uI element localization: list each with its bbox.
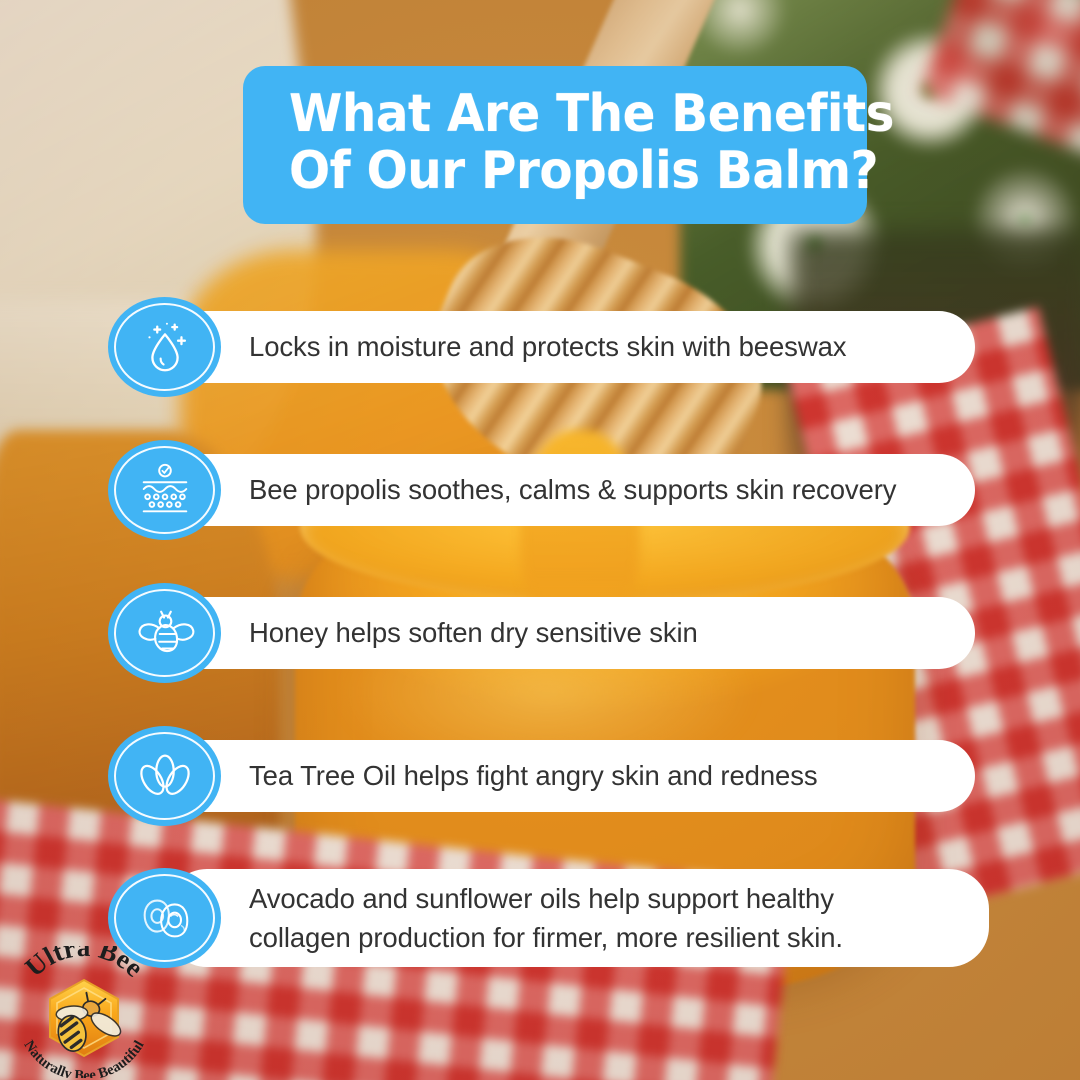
benefit-pill: Avocado and sunflower oils help support … [167,869,989,967]
benefit-row: Bee propolis soothes, calms & supports s… [108,440,975,540]
benefit-pill: Locks in moisture and protects skin with… [167,311,975,383]
benefits-list: Locks in moisture and protects skin with… [0,0,1080,1080]
promo-poster: What Are The Benefits Of Our Propolis Ba… [0,0,1080,1080]
water-droplet-sparkle-icon [108,297,221,397]
benefit-row: Locks in moisture and protects skin with… [108,297,975,397]
tea-tree-leaves-icon [108,726,221,826]
benefit-row: Tea Tree Oil helps fight angry skin and … [108,726,975,826]
benefit-text: Bee propolis soothes, calms & supports s… [249,470,896,509]
skin-layers-check-icon [108,440,221,540]
benefit-pill: Honey helps soften dry sensitive skin [167,597,975,669]
bee-icon [108,583,221,683]
benefit-text: Locks in moisture and protects skin with… [249,327,846,366]
benefit-text-line1: Avocado and sunflower oils help support … [249,883,834,914]
benefit-text: Avocado and sunflower oils help support … [249,879,843,957]
benefit-pill: Bee propolis soothes, calms & supports s… [167,454,975,526]
benefit-row: Honey helps soften dry sensitive skin [108,583,975,683]
brand-logo: Ultra Bee Naturally Bee Beautiful [8,946,160,1078]
benefit-pill: Tea Tree Oil helps fight angry skin and … [167,740,975,812]
benefit-text: Honey helps soften dry sensitive skin [249,613,698,652]
benefit-row: Avocado and sunflower oils help support … [108,868,989,968]
avocado-halves-icon [108,868,221,968]
benefit-text: Tea Tree Oil helps fight angry skin and … [249,756,818,795]
benefit-text-line2: collagen production for firmer, more res… [249,922,843,953]
